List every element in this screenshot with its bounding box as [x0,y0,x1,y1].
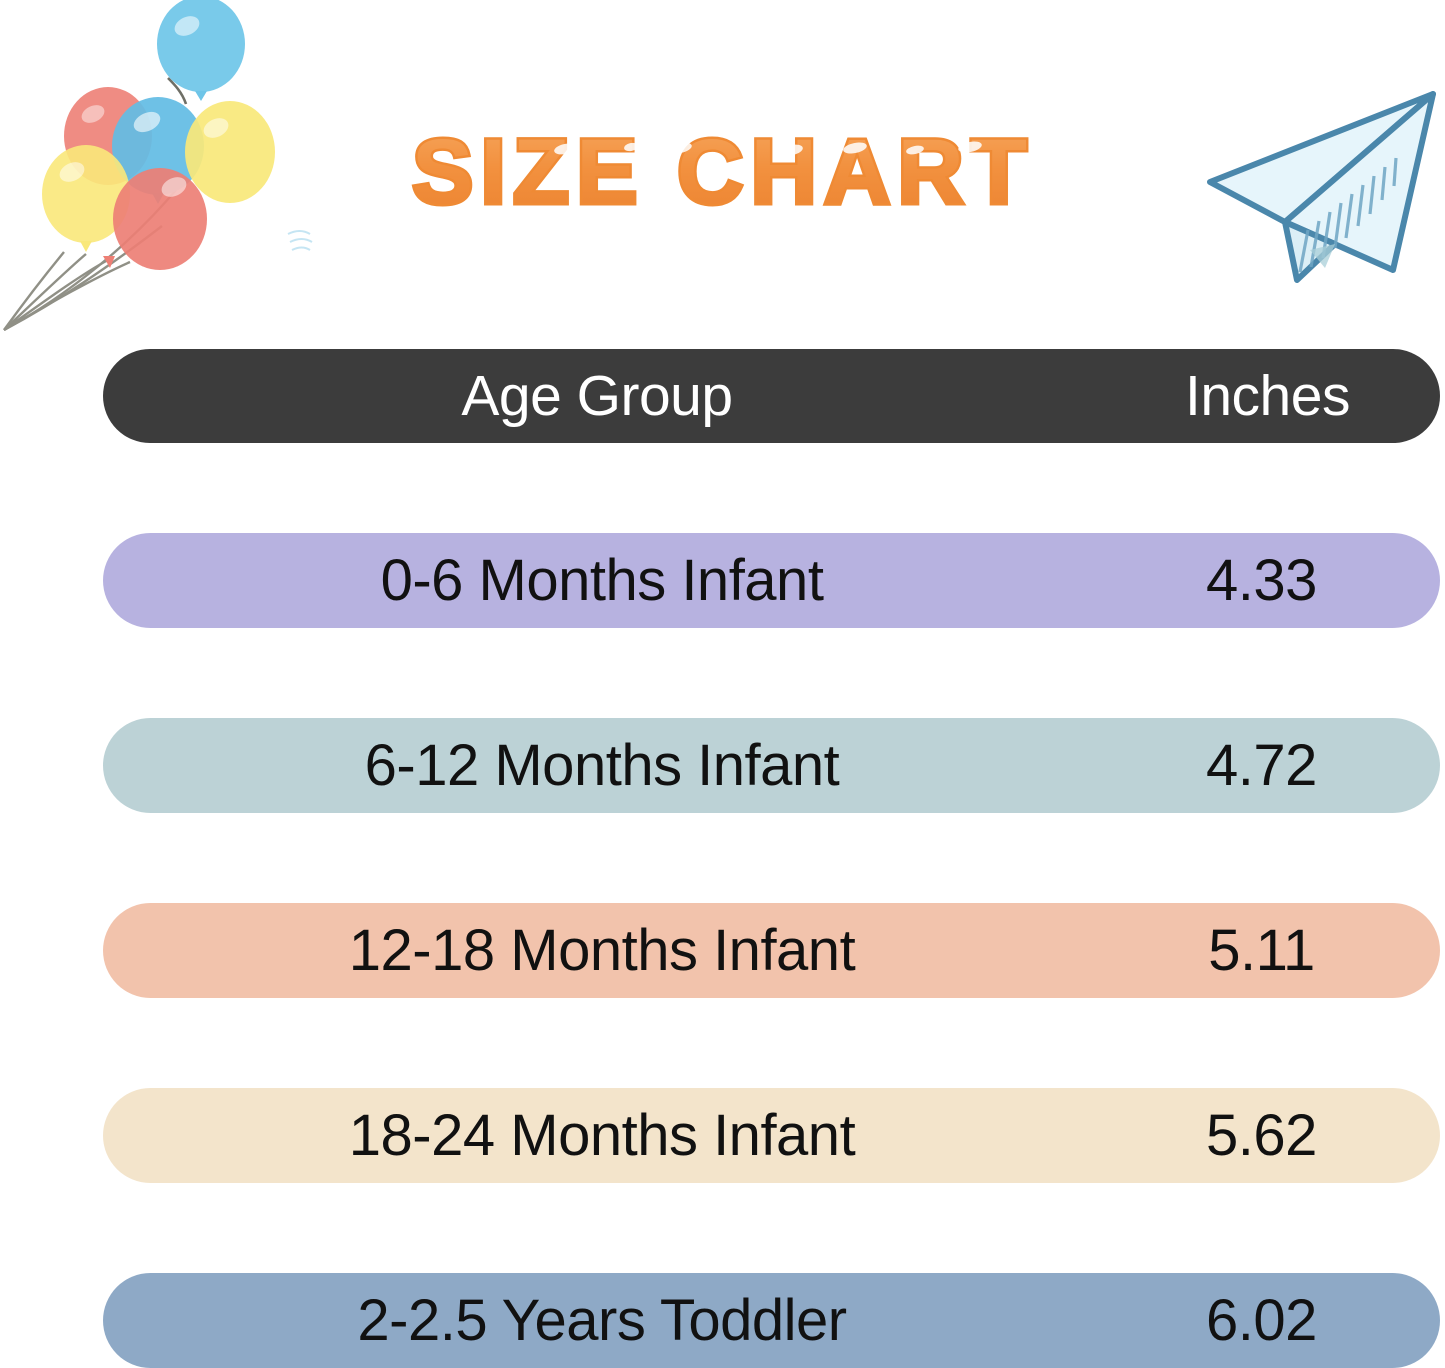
table-row: 12-18 Months Infant 5.11 [103,903,1440,998]
row-inches: 6.02 [1113,1292,1440,1350]
row-age-group: 2-2.5 Years Toddler [103,1292,1113,1350]
page-title-text: SIZE CHART [412,121,1034,223]
row-age-group: 12-18 Months Infant [103,922,1113,980]
page-title: SIZE CHART [0,104,1445,244]
table-row: 18-24 Months Infant 5.62 [103,1088,1440,1183]
column-header-age-group: Age Group [103,368,1113,425]
row-inches: 5.62 [1113,1107,1440,1165]
table-row: 0-6 Months Infant 4.33 [103,533,1440,628]
row-age-group: 0-6 Months Infant [103,552,1113,610]
row-inches: 4.72 [1113,737,1440,795]
size-chart-table: Age Group Inches 0-6 Months Infant 4.33 … [0,349,1445,1368]
row-age-group: 18-24 Months Infant [103,1107,1113,1165]
table-header-row: Age Group Inches [103,349,1440,443]
table-row: 2-2.5 Years Toddler 6.02 [103,1273,1440,1368]
row-inches: 5.11 [1113,922,1440,980]
table-row: 6-12 Months Infant 4.72 [103,718,1440,813]
column-header-inches: Inches [1113,368,1440,425]
size-chart-page: SIZE CHART Age Group Inches 0-6 Months I… [0,0,1445,1365]
row-age-group: 6-12 Months Infant [103,737,1113,795]
row-inches: 4.33 [1113,552,1440,610]
